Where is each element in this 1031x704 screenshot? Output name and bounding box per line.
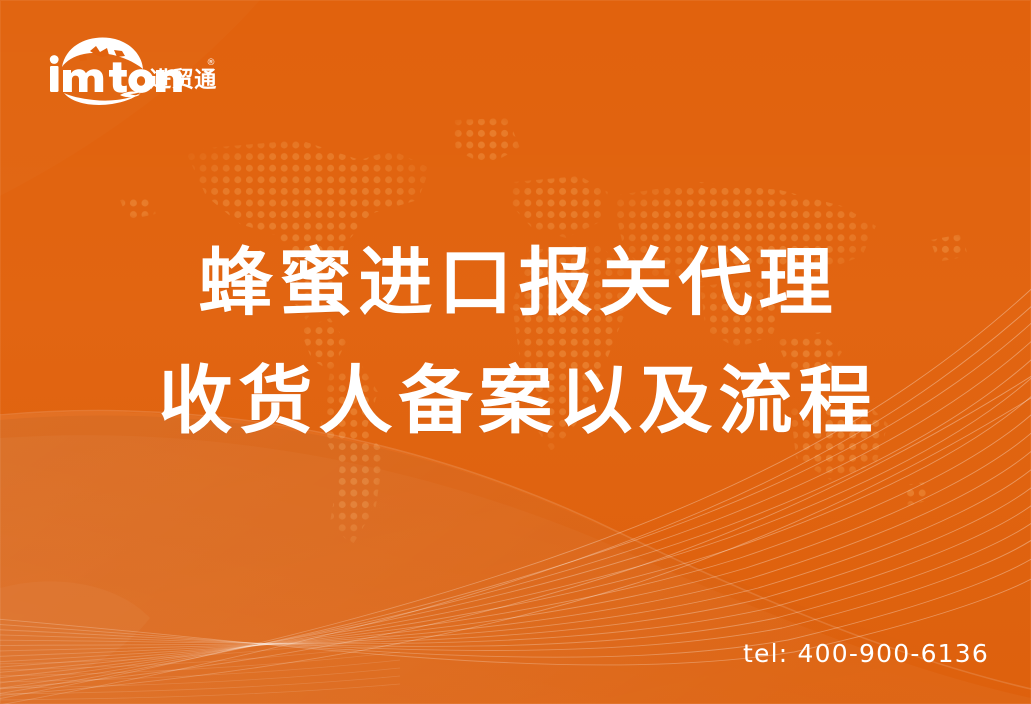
registered-mark-icon: ® (207, 58, 216, 68)
headline-block: 蜂蜜进口报关代理 收货人备案以及流程 (0, 224, 1031, 460)
headline-line-2: 收货人备案以及流程 (0, 342, 1031, 460)
swoosh-arrow-icon (64, 91, 142, 104)
headline-line-1: 蜂蜜进口报关代理 (0, 224, 1031, 342)
logo-chinese-name: 进贸通 (149, 68, 217, 93)
brand-logo[interactable]: 进贸通 ® (46, 33, 218, 107)
contact-phone[interactable]: tel: 400-900-6136 (743, 639, 989, 668)
promo-banner: 进贸通 ® 蜂蜜进口报关代理 收货人备案以及流程 tel: 400-900-61… (0, 0, 1031, 704)
globe-arc-icon (62, 37, 143, 69)
